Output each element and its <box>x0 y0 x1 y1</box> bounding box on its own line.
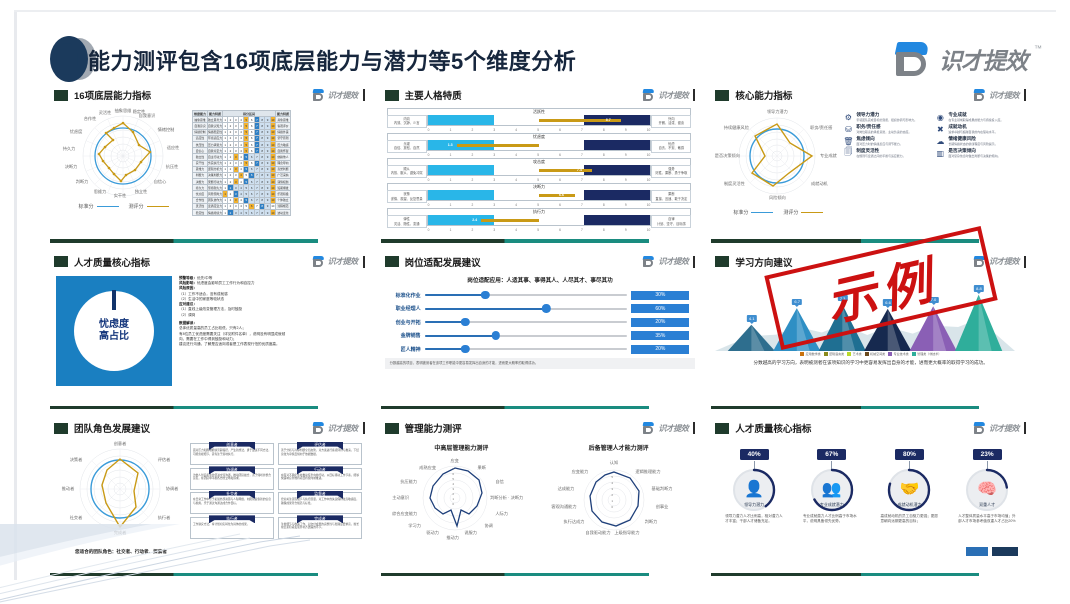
panel-header: 16项底层能力指标 识才提效 <box>54 86 365 104</box>
job-fit-label: 标准化作业 <box>387 292 421 299</box>
medal-icon: ◉ <box>935 112 945 122</box>
svg-text:4: 4 <box>611 481 613 485</box>
svg-text:0: 0 <box>611 505 613 509</box>
panel-core-competency: 核心能力指标 识才提效 <box>709 82 1032 249</box>
radar-label: 情绪控制 <box>158 127 175 133</box>
radar-chart-16: 抽象思维 自我意识 情绪控制 适应性 抗压性 自信心 独立性 实干性 思维力 判… <box>56 110 191 214</box>
radar-label: 果断 <box>477 465 485 471</box>
risk-detail-text: 预警等级：优先/中等风险影响：忧虑度会影响员工工作行为和自控力风险原因：（1）工… <box>179 276 363 386</box>
job-fit-slider[interactable] <box>425 321 628 323</box>
axis-tick: 6 <box>559 228 561 232</box>
metric-item: 80%🤝成就动机潜力高成就动机的员工自驱力更强；更愿意朝向远期更高的目标； <box>877 443 941 524</box>
axis-tick: 4 <box>515 153 517 157</box>
panel-brand: 识才提效 <box>642 256 695 268</box>
metric-label: 专业成就潜力 <box>812 502 852 508</box>
radar-label: 成就动机 <box>811 181 828 187</box>
trait-name: 决断力 <box>387 183 692 190</box>
panel-brand: 识才提效 <box>642 422 695 434</box>
axis-tick: 9 <box>625 178 627 182</box>
slide-page: 能力测评包含16项底层能力与潜力等5个维度分析 识才提效 ™ 16项底层能力指标… <box>0 0 1070 604</box>
capability-table: 维度能力 能力特质 得分区间 能力特质 抽象思维独立思考力12345678910… <box>192 110 291 216</box>
competency-item: 🗑焦虑倾向面对压力时的情绪反应与调节能力。 <box>843 136 931 146</box>
axis-tick: 5 <box>537 153 539 157</box>
report-heading: 数据解读： <box>179 321 197 325</box>
mountain-value-badge: 4.1 <box>747 315 757 321</box>
panel-job-fit: 岗位适配发展建议 识才提效 岗位适配应用：人适其事、事得其人、人尽其才、事尽其功… <box>379 249 702 416</box>
radar-label: 评估者 <box>158 457 171 463</box>
panel-brand: 识才提效 <box>973 256 1026 268</box>
metric-circle: 🧠双重人才 <box>967 470 1007 510</box>
axis-tick: 8 <box>603 203 605 207</box>
panel-divider <box>50 239 318 243</box>
cell-trait: 情绪持续力 <box>208 210 223 216</box>
panel-title: 核心能力指标 <box>735 88 792 102</box>
axis-tick: 6 <box>559 128 561 132</box>
job-fit-row: 职业经理人60% <box>387 304 690 313</box>
axis-tick: 0 <box>428 203 430 207</box>
radar-label: 创意者 <box>114 441 127 447</box>
radar-legend: 标准分 测评分 <box>715 209 841 216</box>
job-fit-percent: 30% <box>631 291 689 300</box>
panel-divider <box>711 239 979 243</box>
axis-tick: 9 <box>625 128 627 132</box>
trait-right-pole: 自律计划、坚守、目标感 <box>651 215 691 228</box>
panel-title: 人才质量核心指标 <box>735 421 811 435</box>
metric-circle: 👥专业成就潜力 <box>812 470 852 510</box>
svg-text:5: 5 <box>611 475 613 479</box>
axis-tick: 8 <box>603 128 605 132</box>
axis-tick: 9 <box>625 203 627 207</box>
trait-value: 7.4 <box>577 168 582 172</box>
brand-d-icon <box>642 89 655 101</box>
target-icon: ✖ <box>935 124 945 134</box>
trait-name: 攻击度 <box>387 158 692 165</box>
svg-text:0: 0 <box>452 502 454 506</box>
brand-logo: 识才提效 ™ <box>892 40 1042 78</box>
mountain-chart: 4.16.77.36.67.08.8 <box>715 273 1026 351</box>
axis-tick: 6 <box>559 203 561 207</box>
panel-brand-text: 识才提效 <box>989 256 1019 267</box>
axis-tick: 7 <box>581 203 583 207</box>
trait-left-pole: 顺从内敛、服从、避免冲突 <box>387 165 427 178</box>
panel-brand: 识才提效 <box>642 89 695 101</box>
trait-value: 2.4 <box>472 218 477 222</box>
role-card-body: 为他人创造机会并促进交流沟通，推动团队融合，善于倾听并整合意见，在团队中平衡各方… <box>193 474 271 481</box>
panel-brand-text: 识才提效 <box>328 423 358 434</box>
radar-label: 抗压能力 <box>400 479 417 485</box>
trait-right-pole: 外向开朗、活泼、健谈 <box>651 115 691 128</box>
panel-body: 岗位适配应用：人适其事、事得其人、人尽其才、事尽其功 标准化作业30%职业经理人… <box>385 276 696 400</box>
axis-tick: 7 <box>581 228 583 232</box>
brand-d-icon <box>312 256 325 268</box>
axis-tick: 0 <box>428 153 430 157</box>
radar-label: 实干性 <box>114 193 127 199</box>
panel-brand-text: 识才提效 <box>658 256 688 267</box>
radar-label: 职务/责任感 <box>810 125 832 131</box>
competency-desc: 带领团队完成目标的潜质，组织协调与影响力。 <box>856 119 917 123</box>
svg-text:6: 6 <box>452 472 454 476</box>
metric-desc: 高成就动机的员工自驱力更强；更愿意朝向远期更高的目标； <box>877 514 941 524</box>
radar-label: 主动意识 <box>392 495 409 501</box>
radar-label: 是否决策倾向 <box>715 153 740 159</box>
mountain-value-badge: 6.6 <box>883 299 893 305</box>
brand-d-icon <box>642 422 655 434</box>
panel-bottom-capability: 16项底层能力指标 识才提效 <box>48 82 371 249</box>
axis-tick: 10 <box>647 178 651 182</box>
donut-label-line1: 忧虑度 <box>99 319 129 331</box>
axis-tick: 3 <box>493 178 495 182</box>
radar-label: 综合应变能力 <box>392 511 417 517</box>
donut-ring: 忧虑度 高占比 <box>74 291 154 371</box>
briefcase-icon: ⛁ <box>843 124 853 134</box>
panel-marker <box>385 423 399 434</box>
radar-label: 合作性 <box>84 116 97 122</box>
metric-percent: 40% <box>740 449 769 460</box>
panel-marker <box>385 90 399 101</box>
axis-tick: 7 <box>581 178 583 182</box>
competency-item: ◉专业成就在专业领域取得成果的能力与持续投入度。 <box>935 112 1023 122</box>
doc-icon: 🗐 <box>843 148 853 158</box>
role-card-body: 在面对不确定性时推动任务向前行动，以目标驱动工作节奏，能够快速响应并维持项目持续… <box>281 474 359 481</box>
book-icon: ▥ <box>935 148 945 158</box>
radar-label: 逻辑推理能力 <box>635 469 660 475</box>
legend-label: 测评分 <box>783 209 798 216</box>
mountain-value-badge: 6.7 <box>792 299 802 305</box>
panel-brand: 识才提效 <box>312 89 365 101</box>
radar-label: 应变能力 <box>572 469 589 475</box>
axis-tick: 10 <box>647 153 651 157</box>
panel-brand: 识才提效 <box>312 422 365 434</box>
role-card-body: 面对压力和困难能够另辟蹊径，产生新想法，勇于尝试不同方法，可能忽视细节，需专注于… <box>193 449 271 456</box>
svg-text:2: 2 <box>611 493 613 497</box>
panel-grid: 16项底层能力指标 识才提效 <box>48 82 1032 582</box>
panel-brand-text: 识才提效 <box>989 423 1019 434</box>
panel-brand-text: 识才提效 <box>328 256 358 267</box>
report-line: 建议进行沟通，了解是否适岗或者是工作表现行怕的优质度高。 <box>179 342 363 347</box>
axis-tick: 0 <box>428 228 430 232</box>
job-fit-slider[interactable] <box>425 335 628 337</box>
axis-tick: 1 <box>450 153 452 157</box>
competency-desc: 在专业领域取得成果的能力与持续投入度。 <box>948 119 1003 123</box>
axis-tick: 10 <box>647 203 651 207</box>
panel-divider <box>711 406 979 410</box>
role-card: 监督者密切关注流程细节与执行质量，对工作中的失误保持较高敏感度，确保成果符合规范… <box>278 492 362 514</box>
radar-label: 自信心 <box>154 179 167 185</box>
table-row: 稳定性情绪持续力12345678910波动变化 <box>193 210 291 216</box>
radar-chart-core: 领导力潜力 职务/责任感 专业成就 成就动机 风险倾向 制度灵活性 是否决策倾向… <box>715 110 841 218</box>
risk-field-value: （1）工作不适合，没有成就感 <box>179 292 228 296</box>
role-card-body: 善于分析与冷静判断全局态势，对方案进行客观评价与推演，下结论较为审慎且倾向于依据… <box>281 449 359 456</box>
radar-label: 忧虑度 <box>70 129 83 135</box>
legend-label: 标准分 <box>78 203 93 210</box>
radar-label: 风险倾向 <box>769 195 786 201</box>
radar-label: 创事业 <box>656 504 669 510</box>
trait-value: 8.7 <box>606 118 611 122</box>
frame-accent-left <box>14 10 17 580</box>
panel-header: 主要人格特质 识才提效 <box>385 86 696 104</box>
trait-name: 执行力 <box>387 208 692 215</box>
radar-label: 说服力 <box>464 530 477 536</box>
chart-title: 中高层管理能力测评 <box>385 443 538 452</box>
competency-desc: 在规则与变通之间的平衡与适应能力。 <box>856 155 905 159</box>
job-fit-row: 金牌销售35% <box>387 331 690 340</box>
panel-brand: 识才提效 <box>973 89 1026 101</box>
competency-desc: 面对复杂信息时做出判断与决策的倾向。 <box>948 155 1000 159</box>
radar-label: 协调 <box>484 523 492 529</box>
panel-divider <box>381 239 649 243</box>
role-card: 协调者为他人创造机会并促进交流沟通，推动团队融合，善于倾听并整合意见，在团队中平… <box>190 468 274 490</box>
job-fit-slider[interactable] <box>425 294 628 296</box>
job-fit-slider[interactable] <box>425 348 628 350</box>
metric-label: 成就动机潜力 <box>889 502 929 508</box>
radar-label: 客观沟通能力 <box>551 504 576 510</box>
brand-d-icon <box>312 422 325 434</box>
risk-field-value: 优先/中等 <box>197 276 212 280</box>
footer-chip-blue <box>966 547 988 556</box>
trait-value: 6.6 <box>559 193 564 197</box>
axis-tick: 0 <box>428 178 430 182</box>
radar-legend: 标准分 测评分 <box>56 203 191 210</box>
trait-name: 活跃性 <box>387 108 692 115</box>
brand-d-icon <box>973 422 986 434</box>
axis-tick: 7 <box>581 128 583 132</box>
trait-right-pole: 果断直接、迅速、敢于决定 <box>651 190 691 203</box>
trait-row: 决断力犹豫谨慎、观望、反复思量6.6果断直接、迅速、敢于决定0123456789… <box>387 183 692 207</box>
axis-tick: 2 <box>471 128 473 132</box>
trait-track: 1.3 <box>427 140 652 151</box>
trait-row: 忧虑度乐观自信、放松、自然1.3忧虑自责、不安、敏感012345678910 <box>387 133 692 157</box>
panel-learning-direction: 学习方向建议 识才提效 4.16.77.36.67.08.8 应用数学类逻辑语言… <box>709 249 1032 416</box>
radar-label: 抗压性 <box>166 164 179 170</box>
role-card: 评估者善于分析与冷静判断全局态势，对方案进行客观评价与推演，下结论较为审慎且倾向… <box>278 443 362 465</box>
legend-label: 测评分 <box>129 203 144 210</box>
svg-text:1: 1 <box>452 497 454 501</box>
radar-label: 判断力 <box>645 519 658 525</box>
chart-title: 后备管理人才能力测评 <box>542 443 695 452</box>
competency-item: ⚙领导力潜力带领团队完成目标的潜质，组织协调与影响力。 <box>843 112 931 122</box>
radar-label: 自我驱动能力 <box>585 530 610 536</box>
cell-dimension: 稳定性 <box>193 210 208 216</box>
brand-d-icon <box>312 89 325 101</box>
risk-field-label: 预警等级： <box>179 276 197 280</box>
panel-talent-quality-metrics: 人才质量核心指标 识才提效 40%👤领导力潜力领导力潜力人才比例高，相对潜力人才… <box>709 415 1032 582</box>
svg-text:3: 3 <box>452 487 454 491</box>
axis-tick: 2 <box>471 178 473 182</box>
svg-text:1: 1 <box>611 499 613 503</box>
radar-label: 成熟应变 <box>419 465 436 471</box>
metric-circle: 🤝成就动机潜力 <box>889 470 929 510</box>
panel-title: 岗位适配发展建议 <box>405 255 481 269</box>
axis-tick: 6 <box>559 153 561 157</box>
radar-label: 判断力 <box>76 179 89 185</box>
panel-brand-text: 识才提效 <box>658 90 688 101</box>
competency-desc: 面对压力时的情绪反应与调节能力。 <box>856 143 902 147</box>
donut-chart: 忧虑度 高占比 <box>56 276 172 386</box>
radar-label: 独立性 <box>135 189 148 195</box>
panel-header: 团队角色发展建议 识才提效 <box>54 419 365 437</box>
axis-tick: 3 <box>493 128 495 132</box>
trait-value: 1.3 <box>448 143 453 147</box>
panel-brand: 识才提效 <box>312 256 365 268</box>
radar-label: 稳定性 <box>133 109 146 115</box>
panel-divider <box>711 573 979 577</box>
brand-d-icon <box>642 256 655 268</box>
brand-d-icon <box>973 256 986 268</box>
cloud-icon: ☁ <box>935 136 945 146</box>
panel-header: 岗位适配发展建议 识才提效 <box>385 253 696 271</box>
radar-label: 应变 <box>450 458 458 464</box>
axis-tick: 7 <box>581 153 583 157</box>
axis-tick: 5 <box>537 228 539 232</box>
role-card: 社交者在日常工作中乐于拓展外部资源与人际网络，向团队提供新的信息与视角，乐于通过… <box>190 492 274 514</box>
trait-left-pole: 乐观自信、放松、自然 <box>387 140 427 153</box>
risk-field-value: 忧虑度会影响员工工作行为和自控力 <box>197 281 255 285</box>
panel-header: 核心能力指标 识才提效 <box>715 86 1026 104</box>
axis-tick: 5 <box>537 128 539 132</box>
metric-percent: 23% <box>973 449 1002 460</box>
axis-tick: 3 <box>493 228 495 232</box>
radar-label: 适应性 <box>167 145 180 151</box>
gear-icon: ⚙ <box>843 112 853 122</box>
metric-item: 67%👥专业成就潜力专业成就潜力人才比例高于市场水平，说明具备领先优势。 <box>800 443 864 524</box>
trait-name: 忧虑度 <box>387 133 692 140</box>
legend-label: 标准分 <box>733 209 748 216</box>
axis-tick: 2 <box>471 228 473 232</box>
panel-marker <box>715 90 729 101</box>
trait-track: 6.6 <box>427 190 652 201</box>
job-fit-subtitle: 岗位适配应用：人适其事、事得其人、人尽其才、事尽其功 <box>385 276 696 284</box>
panel-marker <box>54 90 68 101</box>
job-fit-label: 职业经理人 <box>387 305 421 312</box>
panel-personality-traits: 主要人格特质 识才提效 活跃性内向内敛、沉静、少言8.7外向开朗、活泼、健谈01… <box>379 82 702 249</box>
job-fit-note: 分数越高的项目，表明被测者在该项工作职能中更容易发挥出自身的才能，进而更大概率的… <box>385 358 696 368</box>
job-fit-label: 创业与开拓 <box>387 319 421 326</box>
trait-right-pole: 忧虑自责、不安、敏感 <box>651 140 691 153</box>
svg-text:2: 2 <box>452 492 454 496</box>
radar-label: 人际力 <box>495 511 508 517</box>
axis-tick: 2 <box>471 203 473 207</box>
panel-title: 主要人格特质 <box>405 88 462 102</box>
panel-marker <box>715 423 729 434</box>
competency-desc: 对岗位职责的承担意愿，主动负责的态度。 <box>856 131 911 135</box>
metric-label: 双重人才 <box>967 502 1007 508</box>
mgmt-chart-reserve: 后备管理人才能力测评 <box>542 443 695 544</box>
panel-title: 团队角色发展建议 <box>74 421 150 435</box>
panel-header: 人才质量核心指标 识才提效 <box>715 419 1026 437</box>
metric-item: 40%👤领导力潜力领导力潜力人才比例高，相对潜力人才丰富；干部人才储备充足。 <box>722 443 786 524</box>
panel-brand: 识才提效 <box>973 422 1026 434</box>
axis-tick: 6 <box>559 178 561 182</box>
svg-text:5: 5 <box>452 477 454 481</box>
radar-label: 上级指导能力 <box>614 530 639 536</box>
svg-text:3: 3 <box>611 487 613 491</box>
role-card: 行动者在面对不确定性时推动任务向前行动，以目标驱动工作节奏，能够快速响应并维持项… <box>278 468 362 490</box>
frame-accent-top <box>14 10 1056 12</box>
trait-row: 执行力弹性灵活、随性、变通2.4自律计划、坚守、目标感012345678910 <box>387 208 692 232</box>
donut-label: 忧虑度 高占比 <box>99 319 129 343</box>
panel-divider <box>381 406 649 410</box>
panel-header: 学习方向建议 识才提效 <box>715 253 1026 271</box>
job-fit-percent: 20% <box>631 318 689 327</box>
radar-label: 达成能力 <box>558 486 575 492</box>
slide-header: 能力测评包含16项底层能力与潜力等5个维度分析 识才提效 ™ <box>0 14 1070 76</box>
axis-tick: 1 <box>450 203 452 207</box>
brand-d-icon <box>973 89 986 101</box>
axis-tick: 4 <box>515 203 517 207</box>
risk-field-label: 风险原因： <box>179 286 197 290</box>
radar-label: 推动力 <box>446 535 459 541</box>
axis-tick: 4 <box>515 128 517 132</box>
panel-marker <box>54 256 68 267</box>
radar-label: 认知 <box>610 460 618 466</box>
panel-divider <box>50 406 318 410</box>
axis-tick: 9 <box>625 228 627 232</box>
competency-item: ☁情绪健康风险长期情绪状态的健康程度与风险提示。 <box>935 136 1023 146</box>
panel-title: 人才质量核心指标 <box>74 255 150 269</box>
axis-tick: 4 <box>515 228 517 232</box>
metric-desc: 领导力潜力人才比例高，相对潜力人才丰富；干部人才储备充足。 <box>722 514 786 524</box>
axis-tick: 10 <box>647 128 651 132</box>
job-fit-slider[interactable] <box>425 308 628 310</box>
learning-caption: 分数越高的学习方向，表明被测者在该项知识的学习中更容易发挥出自身的才能，进而更大… <box>715 359 1026 366</box>
cell-right-trait: 波动变化 <box>275 210 290 216</box>
mountain-value-badge: 8.8 <box>974 285 984 291</box>
radar-label: 制度灵活性 <box>724 181 745 187</box>
axis-tick: 1 <box>450 178 452 182</box>
radar-label: 思维力 <box>94 189 107 195</box>
mountain-value-badge: 7.3 <box>837 295 847 301</box>
metric-circle: 👤领导力潜力 <box>734 470 774 510</box>
trait-row: 攻击度顺从内敛、服从、避免冲突7.4强势好胜、果断、勇于争取0123456789… <box>387 158 692 182</box>
axis-tick: 4 <box>515 178 517 182</box>
panel-brand-text: 识才提效 <box>328 90 358 101</box>
panel-title: 管理能力测评 <box>405 421 462 435</box>
panel-talent-quality-donut: 人才质量核心指标 识才提效 忧虑度 高占比 <box>48 249 371 416</box>
axis-tick: 9 <box>625 153 627 157</box>
trait-left-pole: 犹豫谨慎、观望、反复思量 <box>387 190 427 203</box>
footer-chip-navy <box>992 547 1018 556</box>
radar-label: 执行者 <box>158 515 171 521</box>
metric-item: 23%🧠双重人才人才整体质量水平高于市场均值；外部人才市场参考值双重人才占比20… <box>955 443 1019 524</box>
panel-body: 活跃性内向内敛、沉静、少言8.7外向开朗、活泼、健谈012345678910忧虑… <box>385 106 696 230</box>
trait-track: 2.4 <box>427 215 652 226</box>
job-fit-row: 创业与开拓20% <box>387 318 690 327</box>
trait-right-pole: 强势好胜、果断、勇于争取 <box>651 165 691 178</box>
panel-body: 抽象思维 自我意识 情绪控制 适应性 抗压性 自信心 独立性 实干性 思维力 判… <box>54 106 365 230</box>
panel-header: 人才质量核心指标 识才提效 <box>54 253 365 271</box>
axis-tick: 5 <box>537 203 539 207</box>
radar-label: 抽象思维 <box>115 108 132 114</box>
brand-name: 识才提效 <box>939 42 1027 76</box>
donut-label-line2: 高占比 <box>99 331 129 343</box>
axis-tick: 1 <box>450 228 452 232</box>
panel-brand-text: 识才提效 <box>989 90 1019 101</box>
panel-title: 学习方向建议 <box>735 255 792 269</box>
risk-field: （2）调岗 <box>179 313 363 318</box>
axis-tick: 10 <box>647 228 651 232</box>
panel-body: 4.16.77.36.67.08.8 应用数学类逻辑语言类艺术类机械空间类专业技… <box>715 273 1026 397</box>
page-title: 能力测评包含16项底层能力与潜力等5个维度分析 <box>88 44 576 76</box>
metric-desc: 人才整体质量水平高于市场均值；外部人才市场参考值双重人才占比20% <box>955 514 1019 524</box>
risk-field-value: （2）调岗 <box>179 313 195 317</box>
trash-icon: 🗑 <box>843 136 853 146</box>
trait-left-pole: 内向内敛、沉静、少言 <box>387 115 427 128</box>
competency-desc: 长期情绪状态的健康程度与风险提示。 <box>948 143 997 147</box>
panel-body: 领导力潜力 职务/责任感 专业成就 成就动机 风险倾向 制度灵活性 是否决策倾向… <box>715 106 1026 230</box>
job-fit-label: 匠人精神 <box>387 346 421 353</box>
competency-desc: 追求卓越与超越自我的内在驱动水平。 <box>948 131 997 135</box>
job-fit-row: 匠人精神20% <box>387 345 690 354</box>
